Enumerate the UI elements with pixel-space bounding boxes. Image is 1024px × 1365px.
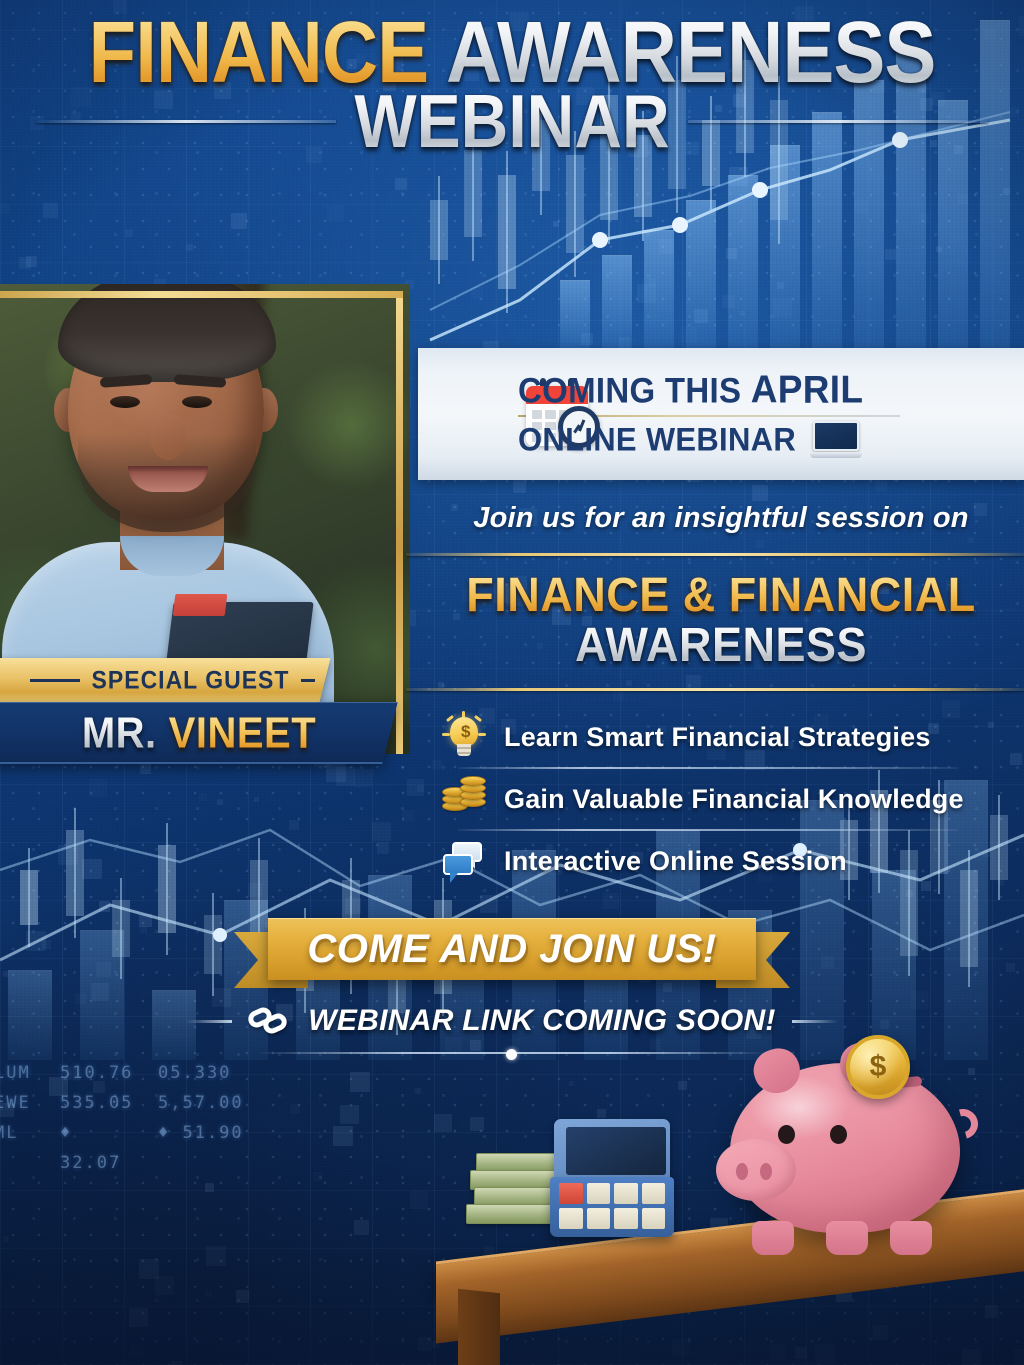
speaker-nose (150, 414, 186, 460)
ribbon-body[interactable]: COME AND JOIN US! (268, 918, 756, 980)
speaker-name-row: MR. VINEET (0, 699, 398, 767)
topic-line-1: FINANCE & FINANCIAL (418, 568, 1024, 622)
poster-canvas: LUM510.7605.330EWE535.055,57.00ML♦ 32.07… (0, 0, 1024, 1365)
benefits-list: $ Learn Smart Financial Strategies Gain … (418, 707, 1024, 891)
piggy-eye-right (830, 1125, 847, 1144)
speaker-eye-right (182, 396, 212, 408)
laptop-base (810, 452, 862, 458)
ticker-value-1: ♦ 32.07 (60, 1118, 136, 1178)
gold-divider-bottom (406, 688, 1024, 691)
list-item: Gain Valuable Financial Knowledge (418, 769, 1024, 829)
link-underline (256, 1049, 768, 1057)
ticker-row: ML♦ 32.07♦ 51.90 (0, 1118, 264, 1178)
speaker-pocket-tab (173, 594, 228, 616)
list-item: $ Learn Smart Financial Strategies (418, 707, 1024, 767)
subtitle-rule-left (36, 120, 336, 123)
laptop-screen (813, 421, 859, 451)
calculator-lid (554, 1119, 670, 1183)
ticker-value-2: ♦ 51.90 (158, 1118, 244, 1178)
list-item-label: Gain Valuable Financial Knowledge (504, 784, 964, 815)
ticker-row: LUM510.7605.330 (0, 1058, 264, 1088)
calculator-screen (566, 1127, 666, 1175)
coming-this-april-line: COMING THIS APRIL (518, 368, 900, 413)
finance-illustration: $ (430, 1035, 1024, 1365)
coin-stack-icon (440, 775, 488, 823)
wooden-table-leg (458, 1289, 500, 1365)
piggy-leg (890, 1221, 932, 1255)
badge-dash-left (30, 679, 80, 682)
ticker-value-2: 5,57.00 (158, 1088, 244, 1118)
special-guest-label: SPECIAL GUEST (92, 665, 290, 694)
speaker-name: VINEET (169, 708, 316, 758)
ticker-row: EWE535.055,57.00 (0, 1088, 264, 1118)
ticker-value-1: 510.76 (60, 1058, 136, 1088)
speaker-eye-left (110, 396, 140, 408)
subtitle-webinar: WEBINAR (354, 81, 669, 161)
piggy-slot-coin: $ (846, 1035, 910, 1099)
list-item: Interactive Online Session (418, 831, 1024, 891)
speaker-hair (58, 284, 276, 382)
piggy-tail (943, 1104, 984, 1145)
piggy-eye-left (778, 1125, 795, 1144)
subtitle-rule-right (688, 120, 988, 123)
info-column: COMING THIS APRIL ONLINE WEBINAR Join us… (418, 348, 1024, 891)
lead-in-text: Join us for an insightful session on (418, 502, 1024, 535)
chat-bubble-front (443, 854, 473, 875)
laptop-icon (810, 421, 862, 459)
online-webinar-row: ONLINE WEBINAR (518, 421, 900, 459)
webinar-link-label: WEBINAR LINK COMING SOON! (308, 1004, 775, 1038)
calculator-icon (550, 1119, 674, 1237)
topic-line-2: AWARENESS (418, 618, 1024, 672)
piggy-snout (716, 1139, 796, 1201)
join-us-ribbon[interactable]: COME AND JOIN US! (234, 918, 790, 990)
ticker-value-2: 05.330 (158, 1058, 231, 1088)
gold-divider-top (406, 553, 1024, 556)
link-rule-left (186, 1020, 232, 1023)
ticker-symbol: LUM (0, 1058, 38, 1088)
piggy-bank-icon (730, 1063, 960, 1233)
list-item-label: Learn Smart Financial Strategies (504, 722, 931, 753)
online-webinar-label: ONLINE WEBINAR (518, 421, 796, 459)
join-us-label: COME AND JOIN US! (307, 927, 716, 972)
dollar-sign: $ (461, 722, 470, 742)
ticker-symbol: ML (0, 1118, 38, 1178)
stock-ticker-text: LUM510.7605.330EWE535.055,57.00ML♦ 32.07… (0, 1058, 264, 1178)
speaker-name-prefix: MR. (82, 708, 157, 758)
topic-title: FINANCE & FINANCIAL AWARENESS (418, 570, 1024, 670)
list-item-label: Interactive Online Session (504, 846, 847, 877)
ticker-symbol: EWE (0, 1088, 38, 1118)
badge-dash-right (301, 679, 315, 682)
link-underline-dot (506, 1049, 517, 1060)
chat-bubbles-icon (440, 837, 488, 885)
ticker-value-1: 535.05 (60, 1088, 136, 1118)
coming-this-label: COMING THIS (518, 371, 751, 410)
chain-link-icon (248, 1006, 292, 1036)
piggy-leg (826, 1221, 868, 1255)
calculator-keys (559, 1183, 665, 1229)
date-banner: COMING THIS APRIL ONLINE WEBINAR (418, 348, 1024, 480)
poster-header: FINANCE AWARENESS WEBINAR (0, 0, 1024, 156)
link-rule-right (792, 1020, 838, 1023)
lightbulb-base (457, 744, 471, 756)
special-guest-label-row: SPECIAL GUEST (0, 658, 345, 702)
lightbulb-dollar-icon: $ (440, 713, 488, 761)
webinar-link-row: WEBINAR LINK COMING SOON! (0, 1004, 1024, 1038)
april-label: APRIL (751, 368, 864, 411)
piggy-leg (752, 1221, 794, 1255)
